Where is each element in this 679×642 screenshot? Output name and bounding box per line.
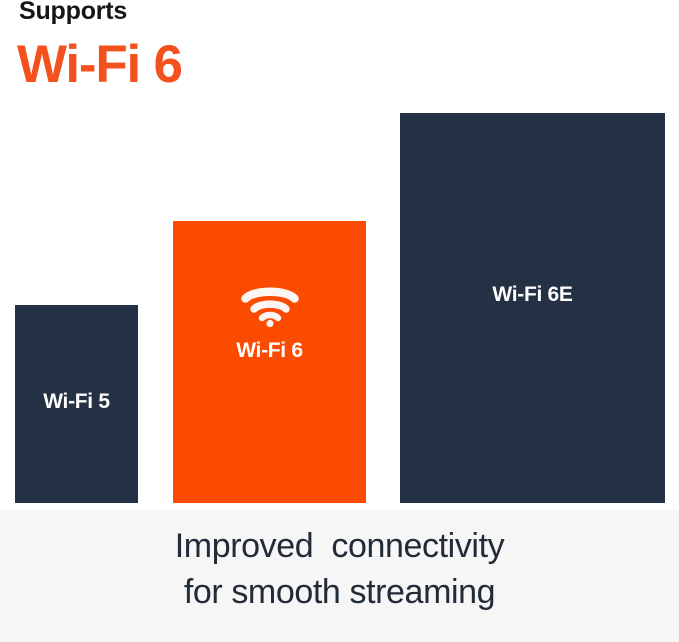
bar-wifi-5: Wi-Fi 5	[15, 305, 138, 503]
wifi-signal-icon	[241, 285, 299, 327]
bar-chart: Wi-Fi 5 Wi-Fi 6 Wi-Fi 6E	[0, 0, 679, 510]
bar-label-wifi-6e: Wi-Fi 6E	[492, 283, 572, 307]
bar-label-wifi-5: Wi-Fi 5	[43, 390, 110, 414]
bar-wifi-6e: Wi-Fi 6E	[400, 113, 665, 503]
caption-band: Improved connectivity for smooth streami…	[0, 510, 679, 642]
caption-line-2: for smooth streaming	[184, 569, 495, 615]
wifi-comparison-infographic: Supports Wi-Fi 6 Wi-Fi 5 Wi-Fi 6 Wi-	[0, 0, 679, 642]
bar-wifi-6: Wi-Fi 6	[173, 221, 366, 503]
bar-label-wifi-6: Wi-Fi 6	[236, 339, 303, 363]
caption-line-1: Improved connectivity	[175, 523, 504, 569]
